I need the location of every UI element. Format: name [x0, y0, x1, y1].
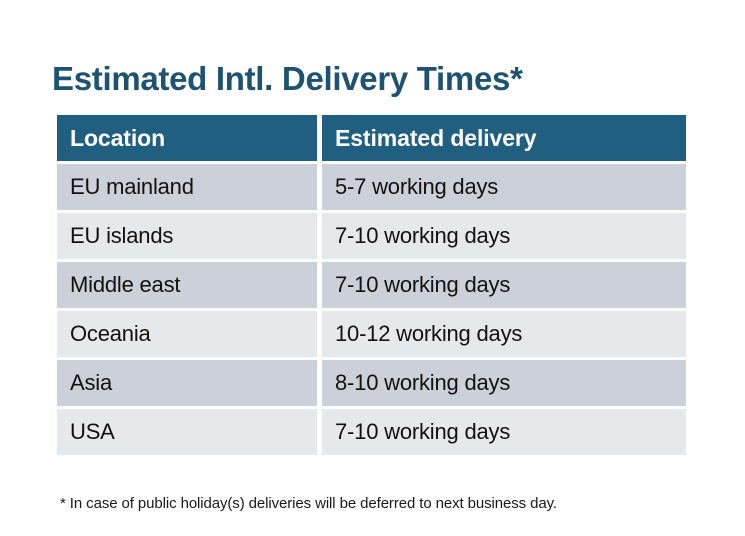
table-row: Middle east 7-10 working days: [57, 262, 686, 308]
table-row: EU mainland 5-7 working days: [57, 164, 686, 210]
cell-delivery: 8-10 working days: [322, 360, 686, 406]
cell-location: USA: [57, 409, 317, 455]
delivery-times-table: Location Estimated delivery EU mainland …: [52, 112, 691, 458]
delivery-times-page: Estimated Intl. Delivery Times* Location…: [0, 0, 745, 536]
column-header-delivery: Estimated delivery: [322, 115, 686, 161]
table-header: Location Estimated delivery: [57, 115, 686, 161]
table-body: EU mainland 5-7 working days EU islands …: [57, 164, 686, 455]
cell-delivery: 7-10 working days: [322, 213, 686, 259]
footnote-text: * In case of public holiday(s) deliverie…: [60, 495, 557, 512]
table-header-row: Location Estimated delivery: [57, 115, 686, 161]
table-row: Oceania 10-12 working days: [57, 311, 686, 357]
table-row: Asia 8-10 working days: [57, 360, 686, 406]
table-row: EU islands 7-10 working days: [57, 213, 686, 259]
cell-delivery: 7-10 working days: [322, 262, 686, 308]
cell-delivery: 10-12 working days: [322, 311, 686, 357]
column-header-location: Location: [57, 115, 317, 161]
table-row: USA 7-10 working days: [57, 409, 686, 455]
cell-location: Middle east: [57, 262, 317, 308]
cell-delivery: 5-7 working days: [322, 164, 686, 210]
cell-location: Asia: [57, 360, 317, 406]
cell-location: EU mainland: [57, 164, 317, 210]
cell-delivery: 7-10 working days: [322, 409, 686, 455]
cell-location: EU islands: [57, 213, 317, 259]
cell-location: Oceania: [57, 311, 317, 357]
page-title: Estimated Intl. Delivery Times*: [52, 58, 523, 100]
